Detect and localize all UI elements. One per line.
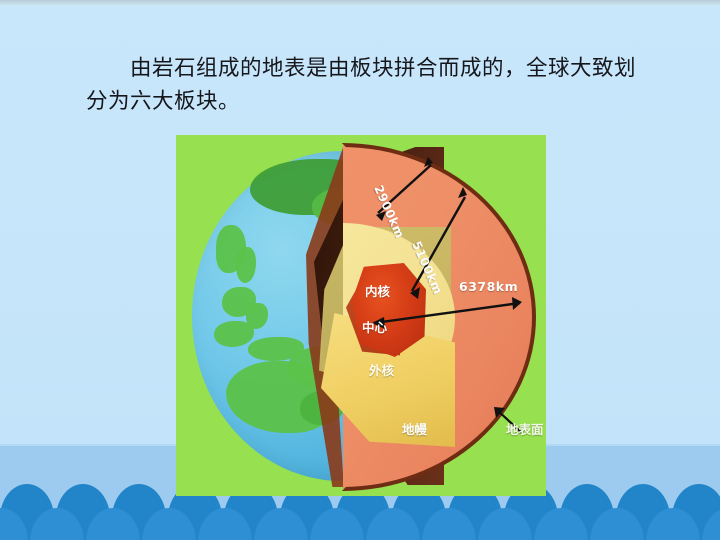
dome-shape [310, 508, 364, 540]
inner-core-layer [352, 263, 426, 357]
dome-shape [198, 508, 252, 540]
dome-shape [366, 508, 420, 540]
presentation-slide: 由岩石组成的地表是由板块拼合而成的，全球大致划分为六大板块。 [0, 0, 720, 540]
label-surface: 地表面 [506, 419, 544, 438]
earth-cross-section-image: 2900km 5100km 6378km 内核 中心 外核 地幔 地表面 [176, 135, 546, 496]
dome-shape [702, 508, 720, 540]
dome-shape [142, 508, 196, 540]
landmass [236, 247, 256, 283]
dome-shape [0, 508, 28, 540]
landmass [214, 321, 254, 347]
decorative-dome-row-front [0, 508, 720, 540]
dome-shape [534, 508, 588, 540]
slide-body-text: 由岩石组成的地表是由板块拼合而成的，全球大致划分为六大板块。 [86, 52, 642, 118]
dome-shape [478, 508, 532, 540]
dome-shape [646, 508, 700, 540]
dome-shape [422, 508, 476, 540]
dome-shape [86, 508, 140, 540]
dome-shape [254, 508, 308, 540]
dome-shape [590, 508, 644, 540]
dome-shape [30, 508, 84, 540]
